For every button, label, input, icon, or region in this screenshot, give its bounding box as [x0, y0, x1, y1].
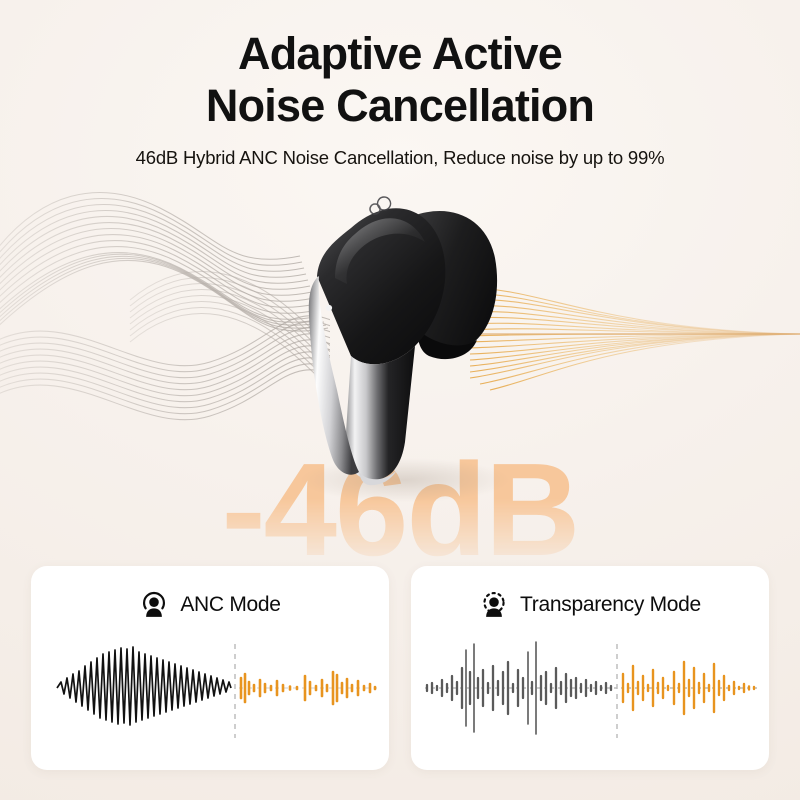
waveform-right-reduced: [241, 672, 375, 704]
waveform-left-loud: [57, 647, 231, 725]
card-transparency-mode[interactable]: Transparency Mode: [411, 566, 769, 770]
page-subtitle: 46dB Hybrid ANC Noise Cancellation, Redu…: [0, 132, 800, 170]
cancelled-noise-waves: [470, 288, 800, 390]
card-transparency-mode-waveform: [411, 628, 769, 748]
card-transparency-mode-title: Transparency Mode: [520, 593, 701, 617]
person-solid-ring-icon: [139, 590, 169, 620]
earbud-product-image: [255, 180, 575, 520]
header: Adaptive Active Noise Cancellation 46dB …: [0, 0, 800, 170]
waveform-right-passthrough: [623, 662, 754, 714]
mode-cards: ANC Mode: [0, 566, 800, 776]
card-anc-mode-waveform: [31, 628, 389, 748]
person-dashed-ring-icon: [479, 590, 509, 620]
title-line-2: Noise Cancellation: [0, 80, 800, 132]
incoming-noise-waves: [0, 193, 410, 420]
noise-reduction-value: -46dB: [0, 440, 800, 580]
card-anc-mode-title: ANC Mode: [180, 593, 280, 617]
page-title: Adaptive Active Noise Cancellation: [0, 0, 800, 132]
title-line-1: Adaptive Active: [238, 28, 562, 79]
noise-reduction-value-watermark: -46dB: [0, 440, 800, 580]
product-feature-banner: -46dB: [0, 0, 800, 800]
card-transparency-mode-header: Transparency Mode: [411, 566, 769, 622]
card-anc-mode[interactable]: ANC Mode: [31, 566, 389, 770]
card-anc-mode-header: ANC Mode: [31, 566, 389, 622]
